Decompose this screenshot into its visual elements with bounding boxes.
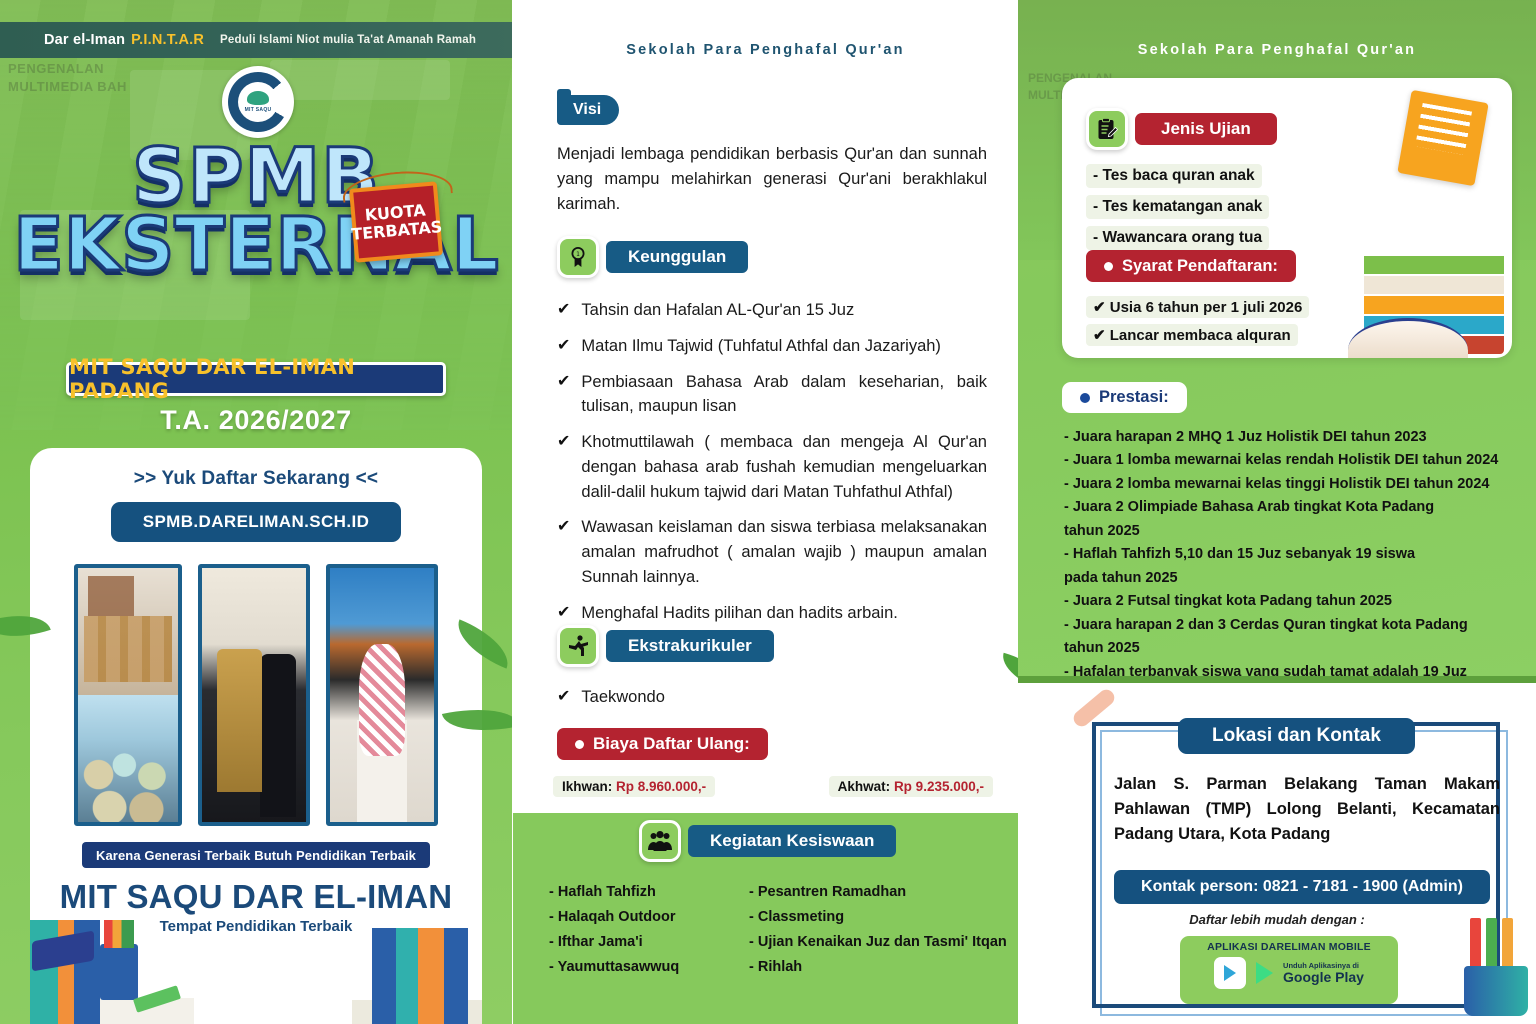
list-item-text: Tahsin dan Hafalan AL-Qur'an 15 Juz [581,298,854,323]
list-item: ✔Tahsin dan Hafalan AL-Qur'an 15 Juz [557,298,987,323]
taekwondo-icon [557,625,599,667]
list-item: - Juara 2 Olimpiade Bahasa Arab tingkat … [1064,496,1524,519]
google-play-icon [1256,962,1273,984]
photo-gallery [74,564,438,826]
bullet-dot-icon [575,740,584,749]
quota-line-2: TERBATAS [351,218,443,244]
logo-core: MIT SAQU [238,82,278,122]
photo-frame-left [74,564,182,826]
list-item-text: Usia 6 tahun per 1 juli 2026 [1110,299,1303,316]
list-item: - Tes baca quran anak [1086,164,1262,188]
play-triangle-icon [1224,965,1236,981]
medal-ribbon-icon: 1 [557,236,599,278]
list-item: pada tahun 2025 [1064,567,1524,590]
photo-sheikh [330,568,434,822]
google-play-banner[interactable]: APLIKASI DARELIMAN MOBILE Unduh Aplikasi… [1180,936,1398,1004]
syarat-label: Syarat Pendaftaran: [1122,257,1278,276]
list-item: ✔Khotmuttilawah ( membaca dan mengeja Al… [557,430,987,504]
pencil-orange-icon [1502,918,1513,972]
notebook-icon [1397,90,1488,186]
keunggulan-list: ✔Tahsin dan Hafalan AL-Qur'an 15 Juz ✔Ma… [557,298,987,636]
logo-label: MIT SAQU [245,107,272,113]
list-item-text: Menghafal Hadits pilihan dan hadits arba… [581,601,897,626]
jenis-ujian-label: Jenis Ujian [1135,113,1277,145]
list-item: tahun 2025 [1064,637,1524,660]
registration-card: >> Yuk Daftar Sekarang << SPMB.DARELIMAN… [30,448,482,1024]
list-item: ✔ Lancar membaca alquran [1086,324,1298,346]
list-item: - Haflah Tahfizh 5,10 dan 15 Juz sebanya… [1064,543,1524,566]
gp-big-text: Google Play [1283,970,1364,985]
visi-header: Visi [557,95,619,125]
list-item-text: Taekwondo [581,685,664,710]
ekstrakurikuler-header: Ekstrakurikuler [557,625,774,667]
app-icon [1214,957,1246,989]
list-item: - Ujian Kenaikan Juz dan Tasmi' Itqan [749,930,1007,955]
school-name-bar: MIT SAQU DAR EL-IMAN PADANG [66,362,446,396]
biaya-daftar-ulang-header: Biaya Daftar Ulang: [557,728,768,760]
check-icon: ✔ [557,515,570,589]
pencil-cup-icon [100,944,138,1000]
list-item-text: Lancar membaca alquran [1110,327,1291,344]
jenis-ujian-list: - Tes baca quran anak - Tes kematangan a… [1086,164,1326,257]
logo-ring: MIT SAQU [228,72,288,132]
list-item: - Haflah Tahfizh [549,880,721,905]
academic-year: T.A. 2026/2027 [0,405,512,436]
list-item: ✔Pembiasaan Bahasa Arab dalam keseharian… [557,370,987,420]
right-tagline: Sekolah Para Penghafal Qur'an [1018,42,1536,58]
middle-panel: Sekolah Para Penghafal Qur'an Visi Menja… [513,0,1018,1024]
books-stack-right-icon [352,928,482,1024]
list-item: - Classmeting [749,905,1007,930]
fee-ikhwan: Ikhwan: Rp 8.960.000,- [553,776,715,797]
brand-acronym: P.I.N.T.A.R [131,32,204,48]
ekstrakurikuler-list: ✔Taekwondo [557,685,987,721]
list-item: - Juara 2 lomba mewarnai kelas tinggi Ho… [1064,473,1524,496]
check-icon: ✔ [557,334,570,359]
list-item: - Juara harapan 2 dan 3 Cerdas Quran tin… [1064,614,1524,637]
people-group-icon [639,820,681,862]
photo-children-group [78,695,178,822]
quota-limited-badge: KUOTA TERBATAS [349,181,443,262]
app-title: APLIKASI DARELIMAN MOBILE [1207,941,1371,953]
list-item: - Wawancara orang tua [1086,226,1269,250]
list-item-text: Matan Ilmu Tajwid (Tuhfatul Athfal dan J… [581,334,941,359]
left-panel: PENGENALANMULTIMEDIA BAH Dar el-Iman P.I… [0,0,512,1024]
registration-url-button[interactable]: SPMB.DARELIMAN.SCH.ID [111,502,401,542]
fee-row: Ikhwan: Rp 8.960.000,- Akhwat: Rp 9.235.… [553,776,993,797]
pencil-red-icon [1470,918,1481,972]
fee-ikhwan-label: Ikhwan: [562,779,612,794]
kegiatan-columns: - Haflah Tahfizh - Halaqah Outdoor - Ift… [549,880,1009,980]
footer-school-name: MIT SAQU DAR EL-IMAN [30,878,482,916]
poster-root: PENGENALANMULTIMEDIA BAH Dar el-Iman P.I… [0,0,1536,1024]
visi-text: Menjadi lembaga pendidikan berbasis Qur'… [557,142,987,217]
kegiatan-label: Kegiatan Kesiswaan [688,825,896,857]
photo-award-ceremony [202,568,306,822]
list-item: - Yaumuttasawwuq [549,955,721,980]
list-item: - Halaqah Outdoor [549,905,721,930]
fee-akhwat: Akhwat: Rp 9.235.000,- [829,776,993,797]
pencil-cup-icon [1458,920,1534,1016]
background-shape [270,60,450,100]
tagline-bar: Karena Generasi Terbaik Butuh Pendidikan… [82,842,430,868]
background-ghost-text: PENGENALANMULTIMEDIA BAH [8,60,127,95]
list-item: ✔Taekwondo [557,685,987,710]
check-icon: ✔ [557,298,570,323]
brand-topbar: Dar el-Iman P.I.N.T.A.R Peduli Islami Ni… [0,22,512,58]
keunggulan-label: Keunggulan [606,241,748,273]
list-item-text: Wawasan keislaman dan siswa terbiasa mel… [581,515,987,589]
kegiatan-column-1: - Haflah Tahfizh - Halaqah Outdoor - Ift… [549,880,721,980]
photo-classroom [78,568,178,695]
bullet-dot-icon [1104,262,1113,271]
school-logo: MIT SAQU [222,66,294,138]
fee-ikhwan-value: Rp 8.960.000,- [616,779,706,794]
check-icon: ✔ [557,685,570,710]
visi-label: Visi [557,95,619,125]
list-item: - Rihlah [749,955,1007,980]
cup-icon [1464,966,1528,1016]
list-item: - Juara harapan 2 MHQ 1 Juz Holistik DEI… [1064,426,1524,449]
list-item-text: Pembiasaan Bahasa Arab dalam keseharian,… [581,370,987,420]
cta-heading: >> Yuk Daftar Sekarang << [30,468,482,490]
syarat-list: ✔ Usia 6 tahun per 1 juli 2026 ✔ Lancar … [1086,296,1336,352]
list-item: tahun 2025 [1064,520,1524,543]
check-icon: ✔ [557,430,570,504]
prestasi-label: Prestasi: [1099,388,1169,407]
fee-akhwat-value: Rp 9.235.000,- [894,779,984,794]
photo-frame-right [326,564,438,826]
list-item: - Juara 2 Futsal tingkat kota Padang tah… [1064,590,1524,613]
lokasi-kontak-header: Lokasi dan Kontak [1178,718,1415,754]
prestasi-header: Prestasi: [1062,382,1187,413]
kegiatan-kesiswaan-header: Kegiatan Kesiswaan [639,820,896,862]
prestasi-list: - Juara harapan 2 MHQ 1 Juz Holistik DEI… [1064,426,1524,684]
right-panel: PENGENALANMULTIMEDIA Sekolah Para Pengha… [1018,0,1536,1024]
list-item: ✔Menghafal Hadits pilihan dan hadits arb… [557,601,987,626]
syarat-pendaftaran-header: Syarat Pendaftaran: [1086,250,1296,282]
list-item: ✔Matan Ilmu Tajwid (Tuhfatul Athfal dan … [557,334,987,359]
address-text: Jalan S. Parman Belakang Taman Makam Pah… [1114,772,1500,846]
fee-akhwat-label: Akhwat: [838,779,891,794]
svg-text:1: 1 [576,251,580,258]
ekstrakurikuler-label: Ekstrakurikuler [606,630,774,662]
list-item: - Ifthar Jama'i [549,930,721,955]
bullet-dot-icon [1080,393,1090,403]
kegiatan-column-2: - Pesantren Ramadhan - Classmeting - Uji… [749,880,1007,980]
logo-leaf-icon [247,91,269,105]
check-icon: ✔ [557,601,570,626]
middle-tagline: Sekolah Para Penghafal Qur'an [513,42,1018,58]
check-icon: ✔ [557,370,570,420]
list-item: - Pesantren Ramadhan [749,880,1007,905]
google-play-row: Unduh Aplikasinya di Google Play [1214,957,1364,989]
brand-motto: Peduli Islami Niot mulia Ta'at Amanah Ra… [220,34,476,46]
biaya-label: Biaya Daftar Ulang: [593,734,750,754]
brand-name: Dar el-Iman [44,32,125,48]
contact-person-button[interactable]: Kontak person: 0821 - 7181 - 1900 (Admin… [1114,870,1490,904]
list-item: - Tes kematangan anak [1086,195,1269,219]
keunggulan-header: 1 Keunggulan [557,236,748,278]
list-item: ✔ Usia 6 tahun per 1 juli 2026 [1086,296,1309,318]
google-play-text: Unduh Aplikasinya di Google Play [1283,962,1364,985]
clipboard-pen-icon [1086,108,1128,150]
photo-frame-middle [198,564,310,826]
pencil-green-icon [1486,918,1497,972]
list-item: - Juara 1 lomba mewarnai kelas rendah Ho… [1064,449,1524,472]
exam-requirements-card: Jenis Ujian - Tes baca quran anak - Tes … [1062,78,1512,358]
jenis-ujian-header: Jenis Ujian [1086,108,1277,150]
list-item: ✔Wawasan keislaman dan siswa terbiasa me… [557,515,987,589]
list-item-text: Khotmuttilawah ( membaca dan mengeja Al … [581,430,987,504]
